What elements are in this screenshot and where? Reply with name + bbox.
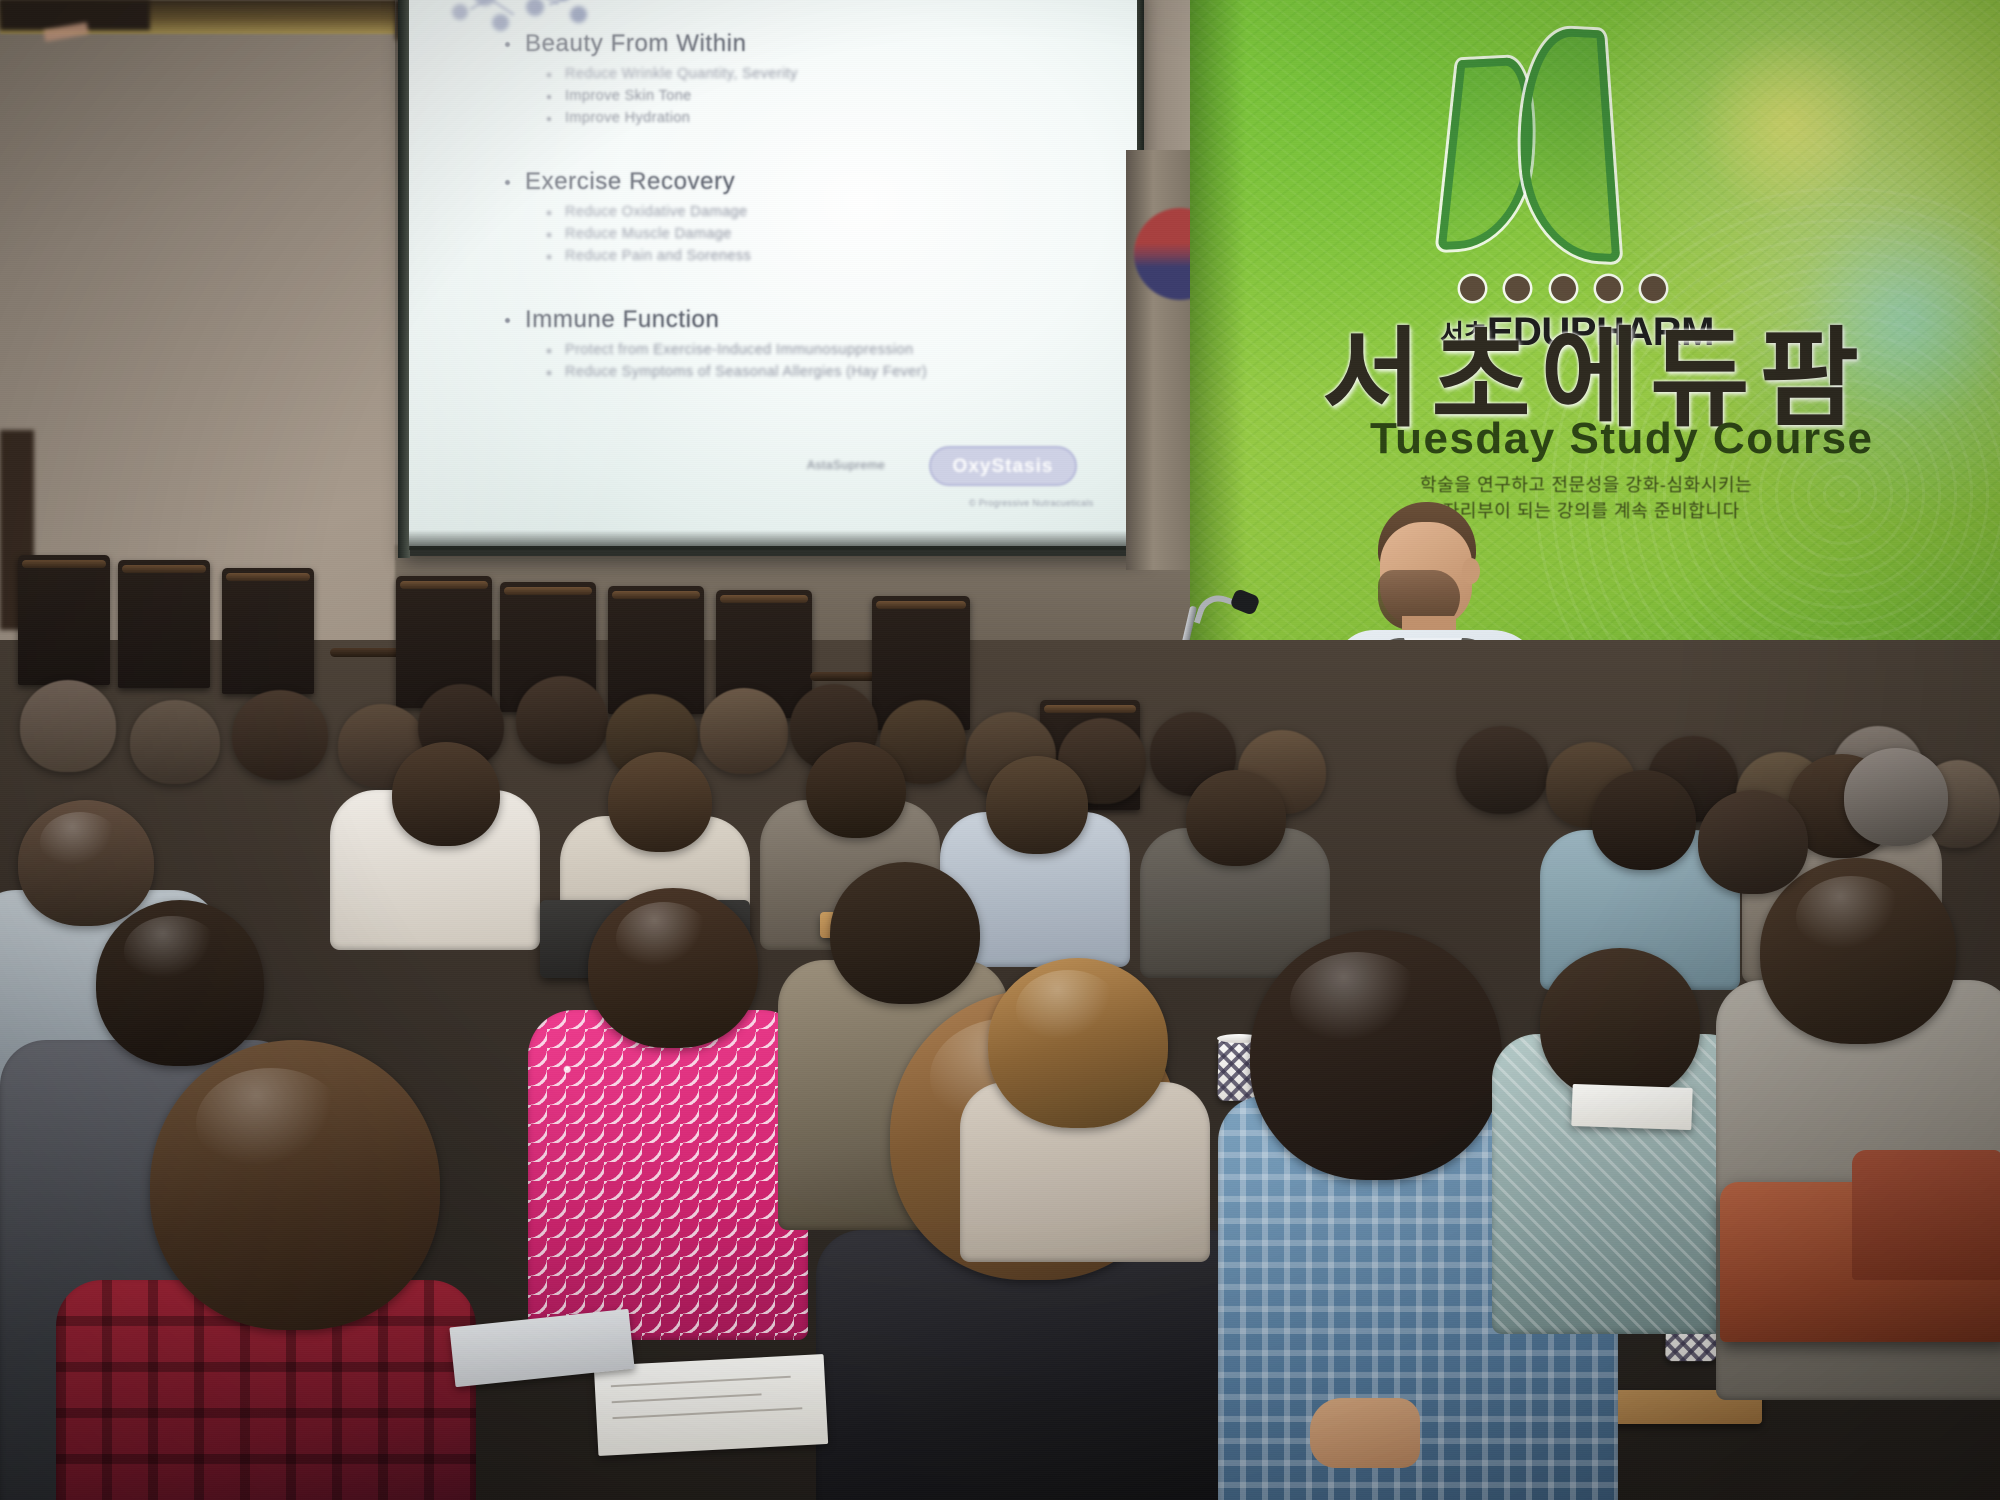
audience-head [1698,790,1808,894]
lecture-hall-photo: Beauty From Within Reduce Wrinkle Quanti… [0,0,2000,1500]
audience-head [986,756,1088,854]
paper-text-line [613,1407,803,1419]
speaker-ear [1462,558,1480,584]
slide-bullet-1-3: Improve Hydration [499,110,1099,126]
slide-bullet-2-3: Reduce Pain and Soreness [499,248,1099,264]
empty-chair [118,560,210,688]
leaf-icon-right [1512,26,1621,262]
slide-heading-2: Exercise Recovery [499,168,1099,196]
brand-pill-label: OxyStasis [929,456,1077,478]
slide-bullet-1-1: Reduce Wrinkle Quantity, Severity [499,66,1099,82]
slide-bullet-2-2: Reduce Muscle Damage [499,226,1099,242]
hair-highlight [196,1068,346,1178]
audience-head [130,700,220,784]
slide-spacer-2 [499,270,1099,306]
audience-head [700,688,788,774]
audience-head [516,676,608,764]
empty-chair [222,568,314,694]
audience-head [1456,726,1548,814]
audience-head [1186,770,1286,866]
audience-body [528,1010,808,1340]
audience-head [806,742,906,838]
hair-highlight [40,812,120,872]
hair-highlight [124,916,220,986]
audience-head [232,690,328,780]
empty-chair [18,555,110,685]
audience-head [830,862,980,1004]
slide-spacer [499,132,1099,168]
slide-heading-1: Beauty From Within [499,30,1099,58]
brand-name-text: AstaSupreme [807,458,885,472]
slide-bullet-3-2: Reduce Symptoms of Seasonal Allergies (H… [499,364,1099,380]
audience-head [1592,770,1696,870]
banner-light-glow [1693,28,1883,218]
slide-heading-3: Immune Function [499,306,1099,334]
audience-hand [1310,1398,1420,1468]
handout-paper [1571,1084,1692,1130]
chair-shell-rear-2 [1852,1150,2000,1280]
screen-bottom-shadow [409,530,1137,550]
hair-highlight [1796,876,1906,958]
projection-screen: Beauty From Within Reduce Wrinkle Quanti… [409,0,1137,546]
audience-head [1844,748,1948,846]
paper-text-line [612,1393,762,1403]
slide-bullet-1-2: Improve Skin Tone [499,88,1099,104]
handout-paper [594,1354,828,1456]
hair-highlight [1290,952,1424,1052]
banner-subtitle-english: Tuesday Study Course [1370,414,1930,464]
slide-bullet-3-1: Protect from Exercise-Induced Immunosupp… [499,342,1099,358]
paper-text-line [611,1376,791,1387]
audience-head [1540,948,1700,1100]
hair-highlight [616,902,712,974]
slide-footer: AstaSupreme OxyStasis © Progressive Nutr… [807,442,1107,502]
slide-bullet-2-1: Reduce Oxidative Damage [499,204,1099,220]
slide-bullet-list: Beauty From Within Reduce Wrinkle Quanti… [499,30,1099,386]
slide-copyright: © Progressive Nutracueticals [969,498,1094,508]
hair-highlight [1016,970,1120,1048]
edupharm-logo: 서초EDUPHARM [1408,22,1708,312]
banner-tagline-line-1: 학술을 연구하고 전문성을 강화-심화시키는 [1420,472,1860,498]
audience-head [20,680,116,772]
chair-armrest [330,648,402,657]
audience-head [392,742,500,846]
audience-head [608,752,712,852]
